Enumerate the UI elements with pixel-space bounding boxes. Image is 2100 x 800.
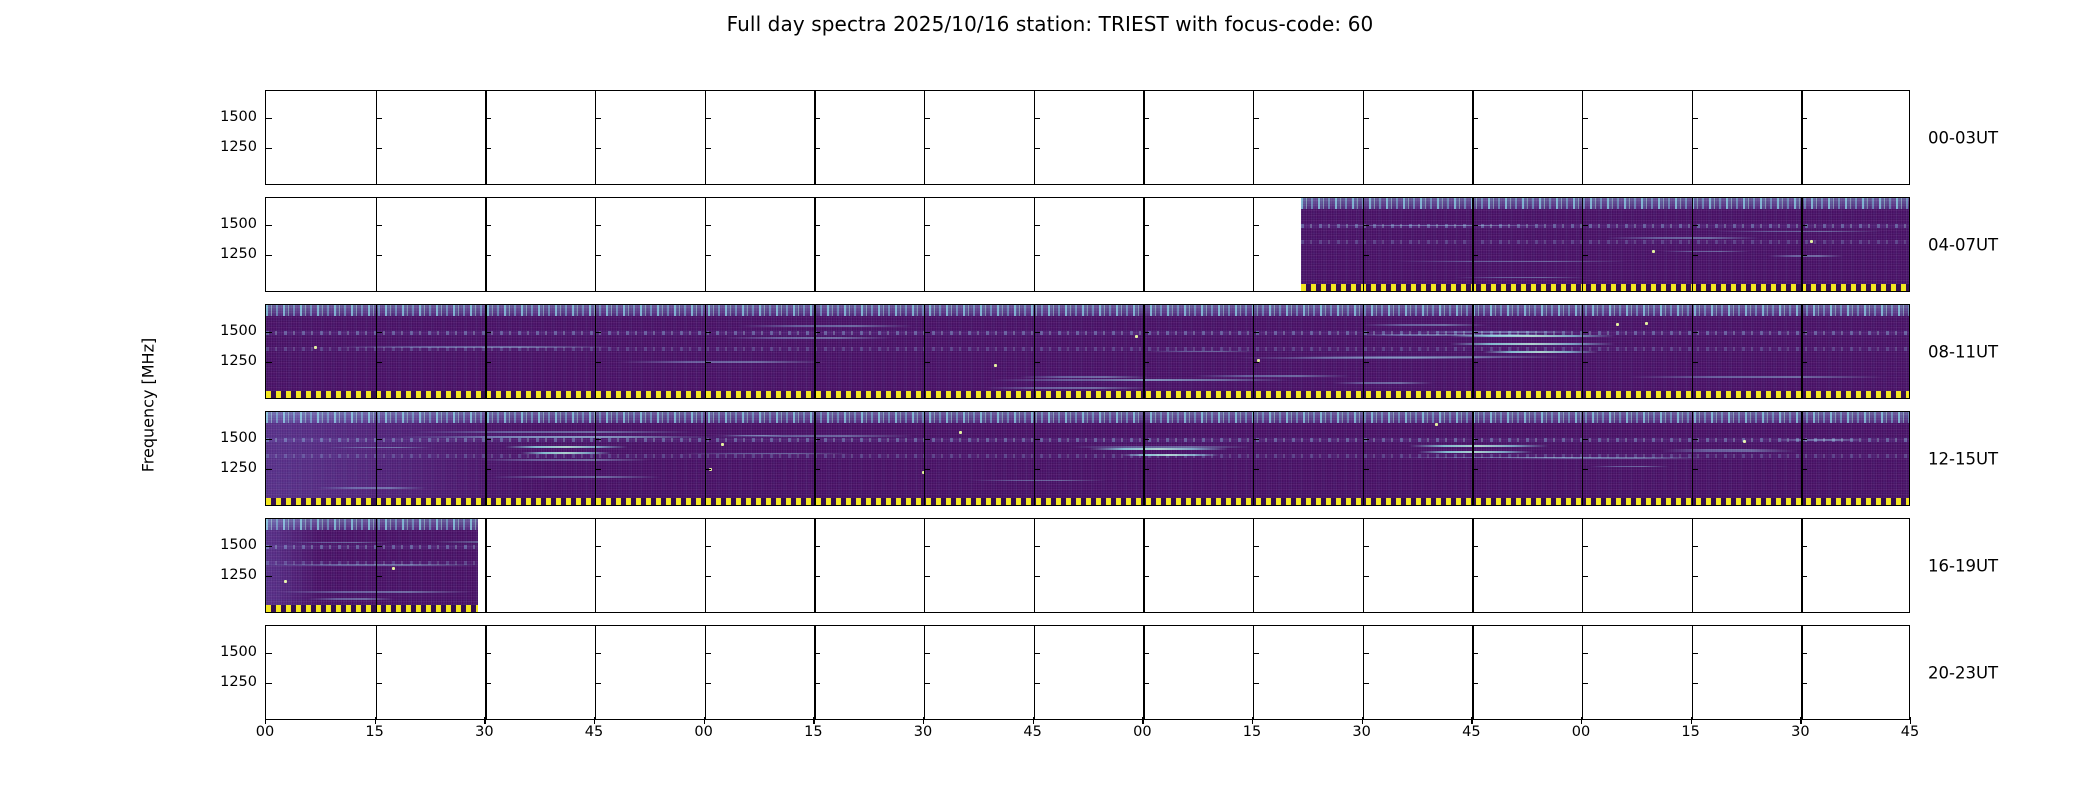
spectrogram-bright-point bbox=[1135, 335, 1138, 338]
y-tick-mark bbox=[1801, 148, 1807, 149]
y-tick-mark bbox=[1143, 653, 1149, 654]
y-tick-label: 1500 bbox=[220, 216, 257, 232]
row-labels: 00-03UT04-07UT08-11UT12-15UT16-19UT20-23… bbox=[1928, 90, 2098, 720]
y-tick-mark bbox=[1363, 546, 1369, 547]
x-tick-label: 30 bbox=[1352, 724, 1370, 740]
y-tick-mark bbox=[1582, 439, 1588, 440]
panel-separator bbox=[595, 626, 596, 719]
y-tick-mark bbox=[814, 469, 820, 470]
y-tick-mark bbox=[1582, 576, 1588, 577]
y-tick-mark bbox=[1692, 683, 1698, 684]
panel-separator bbox=[1692, 305, 1693, 398]
y-tick-mark bbox=[1801, 653, 1807, 654]
y-tick-mark bbox=[1253, 332, 1259, 333]
spectrogram-rfi-streak bbox=[1421, 331, 1577, 333]
y-tick-mark bbox=[485, 332, 491, 333]
x-tick-mark bbox=[265, 717, 266, 724]
y-tick-mark bbox=[376, 255, 382, 256]
y-tick-mark bbox=[1472, 653, 1478, 654]
y-tick-mark bbox=[924, 546, 930, 547]
y-tick-mark bbox=[1253, 576, 1259, 577]
spectrogram-rfi-streak bbox=[1661, 251, 1750, 253]
y-tick-mark bbox=[266, 439, 272, 440]
y-tick-mark bbox=[705, 546, 711, 547]
y-tick-mark bbox=[814, 653, 820, 654]
spectrogram-rfi-streak bbox=[1418, 451, 1533, 453]
y-tick-mark bbox=[1363, 469, 1369, 470]
y-tick-mark bbox=[1472, 148, 1478, 149]
y-tick-mark bbox=[1582, 255, 1588, 256]
spectrogram-top-band bbox=[266, 519, 478, 530]
y-tick-mark bbox=[266, 469, 272, 470]
y-tick-mark bbox=[1582, 332, 1588, 333]
y-tick-mark bbox=[1034, 439, 1040, 440]
y-tick-mark bbox=[1034, 362, 1040, 363]
x-tick-label: 15 bbox=[804, 724, 822, 740]
spectrogram-rfi-streak bbox=[1361, 324, 1487, 326]
spectrogram-rfi-streak bbox=[505, 446, 628, 448]
panel-separator bbox=[1034, 519, 1035, 612]
y-tick-label: 1500 bbox=[220, 537, 257, 553]
y-tick-mark bbox=[1034, 332, 1040, 333]
y-tick-mark bbox=[1253, 255, 1259, 256]
spectrogram-row bbox=[265, 197, 1910, 292]
row-plot-area bbox=[266, 412, 1909, 505]
y-tick-mark bbox=[1143, 576, 1149, 577]
y-tick-mark bbox=[1582, 653, 1588, 654]
y-tick-mark bbox=[924, 225, 930, 226]
y-tick-mark bbox=[924, 653, 930, 654]
y-tick-mark bbox=[814, 225, 820, 226]
spectrogram-rfi-streak bbox=[619, 361, 827, 363]
figure-canvas: Full day spectra 2025/10/16 station: TRI… bbox=[0, 0, 2100, 800]
y-tick-mark bbox=[376, 469, 382, 470]
row-plot-area bbox=[266, 519, 1909, 612]
y-tick-mark bbox=[1472, 546, 1478, 547]
y-tick-mark bbox=[1582, 683, 1588, 684]
y-tick-mark bbox=[485, 576, 491, 577]
x-tick-label: 00 bbox=[694, 724, 712, 740]
y-tick-mark bbox=[485, 362, 491, 363]
x-axis-tick-labels: 00153045001530450015304500153045 bbox=[265, 724, 1910, 754]
spectrogram-secondary-band bbox=[1301, 240, 1909, 244]
y-tick-mark bbox=[1034, 255, 1040, 256]
spectrogram-rfi-streak bbox=[1713, 231, 1881, 233]
y-tick-mark bbox=[1363, 576, 1369, 577]
y-tick-mark bbox=[1253, 653, 1259, 654]
y-tick-mark bbox=[595, 576, 601, 577]
y-tick-mark bbox=[705, 576, 711, 577]
y-tick-mark bbox=[705, 653, 711, 654]
row-time-label: 08-11UT bbox=[1928, 342, 1998, 361]
panel-separator bbox=[1692, 519, 1693, 612]
y-tick-mark bbox=[1253, 362, 1259, 363]
spectrogram-rfi-streak bbox=[1606, 237, 1760, 239]
y-tick-label: 1250 bbox=[220, 567, 257, 583]
spectrogram-data bbox=[266, 412, 1909, 505]
spectrogram-rfi-streak bbox=[723, 337, 893, 339]
spectrogram-bright-point bbox=[1435, 423, 1438, 426]
y-tick-mark bbox=[705, 683, 711, 684]
y-tick-mark bbox=[595, 653, 601, 654]
y-tick-mark bbox=[705, 255, 711, 256]
y-tick-mark bbox=[814, 362, 820, 363]
y-tick-mark bbox=[595, 118, 601, 119]
y-tick-mark bbox=[814, 683, 820, 684]
y-tick-mark bbox=[595, 439, 601, 440]
y-tick-mark bbox=[376, 576, 382, 577]
y-tick-label: 1500 bbox=[220, 644, 257, 660]
y-tick-mark bbox=[1692, 653, 1698, 654]
y-axis-title: Frequency [MHz] bbox=[139, 338, 158, 472]
y-tick-mark bbox=[924, 576, 930, 577]
y-tick-mark bbox=[485, 653, 491, 654]
panel-separator bbox=[1143, 198, 1144, 291]
x-tick-label: 45 bbox=[1023, 724, 1041, 740]
panel-separator bbox=[1472, 91, 1473, 184]
spectrogram-noise-texture bbox=[266, 305, 1909, 398]
spectrogram-bright-point bbox=[284, 580, 287, 583]
panel-separator bbox=[485, 519, 486, 612]
y-tick-mark bbox=[1034, 469, 1040, 470]
y-tick-mark bbox=[1801, 546, 1807, 547]
y-tick-mark bbox=[1801, 683, 1807, 684]
y-tick-mark bbox=[1143, 546, 1149, 547]
spectrogram-rfi-streak bbox=[1454, 277, 1588, 279]
y-tick-mark bbox=[1034, 683, 1040, 684]
spectrogram-row bbox=[265, 625, 1910, 720]
spectrogram-rfi-streak bbox=[1450, 343, 1615, 345]
y-tick-mark bbox=[1034, 546, 1040, 547]
panel-separator bbox=[1034, 626, 1035, 719]
y-tick-mark bbox=[924, 255, 930, 256]
y-tick-mark bbox=[1363, 362, 1369, 363]
y-tick-mark bbox=[1034, 225, 1040, 226]
y-tick-mark bbox=[1692, 118, 1698, 119]
panel-separator bbox=[705, 305, 706, 398]
panel-separator bbox=[1363, 305, 1364, 398]
y-tick-mark bbox=[1143, 332, 1149, 333]
panel-separator bbox=[1363, 412, 1364, 505]
y-tick-mark bbox=[1143, 225, 1149, 226]
panel-separator bbox=[814, 412, 815, 505]
y-tick-mark bbox=[1801, 225, 1807, 226]
y-tick-mark bbox=[485, 148, 491, 149]
panel-separator bbox=[1801, 91, 1802, 184]
row-plot-area bbox=[266, 91, 1909, 184]
panel-separator bbox=[595, 91, 596, 184]
y-tick-label: 1250 bbox=[220, 139, 257, 155]
data-quality-flag-strip bbox=[266, 498, 1909, 505]
y-tick-mark bbox=[595, 469, 601, 470]
row-time-label: 16-19UT bbox=[1928, 556, 1998, 575]
panel-separator bbox=[924, 626, 925, 719]
panel-separator bbox=[1582, 519, 1583, 612]
spectrogram-secondary-band bbox=[266, 438, 1909, 442]
spectrogram-row bbox=[265, 411, 1910, 506]
y-tick-mark bbox=[924, 469, 930, 470]
spectrogram-noise-texture bbox=[1301, 198, 1909, 291]
y-tick-mark bbox=[266, 362, 272, 363]
y-tick-mark bbox=[1143, 683, 1149, 684]
panel-separator bbox=[376, 198, 377, 291]
y-tick-mark bbox=[814, 546, 820, 547]
panel-separator bbox=[595, 519, 596, 612]
y-tick-mark bbox=[1692, 439, 1698, 440]
y-tick-mark bbox=[376, 683, 382, 684]
spectrogram-grid bbox=[265, 90, 1910, 720]
x-tick-label: 45 bbox=[1462, 724, 1480, 740]
panel-separator bbox=[1692, 412, 1693, 505]
y-tick-mark bbox=[1363, 653, 1369, 654]
y-tick-mark bbox=[485, 469, 491, 470]
y-tick-mark bbox=[595, 225, 601, 226]
panel-separator bbox=[1582, 305, 1583, 398]
y-tick-label: 1500 bbox=[220, 323, 257, 339]
spectrogram-rfi-streak bbox=[1238, 357, 1503, 359]
y-tick-mark bbox=[1472, 332, 1478, 333]
panel-separator bbox=[1692, 198, 1693, 291]
y-tick-mark bbox=[1363, 255, 1369, 256]
spectrogram-data bbox=[266, 305, 1909, 398]
spectrogram-rfi-streak bbox=[1089, 448, 1229, 450]
panel-separator bbox=[1143, 91, 1144, 184]
spectrogram-secondary-band bbox=[266, 331, 1909, 335]
y-tick-mark bbox=[1472, 469, 1478, 470]
spectrogram-top-band bbox=[266, 305, 1909, 316]
y-tick-mark bbox=[485, 255, 491, 256]
y-tick-mark bbox=[1253, 546, 1259, 547]
y-tick-mark bbox=[1363, 439, 1369, 440]
panel-separator bbox=[1472, 198, 1473, 291]
row-time-label: 00-03UT bbox=[1928, 128, 1998, 147]
y-tick-mark bbox=[924, 683, 930, 684]
spectrogram-data bbox=[1301, 198, 1909, 291]
panel-separator bbox=[924, 305, 925, 398]
spectrogram-rfi-streak bbox=[1121, 454, 1220, 456]
panel-separator bbox=[1582, 91, 1583, 184]
spectrogram-rfi-streak bbox=[1395, 261, 1627, 263]
panel-separator bbox=[705, 519, 706, 612]
spectrogram-bright-point bbox=[314, 346, 317, 349]
y-tick-mark bbox=[485, 439, 491, 440]
panel-separator bbox=[1363, 198, 1364, 291]
spectrogram-rfi-streak bbox=[327, 447, 434, 449]
x-tick-label: 45 bbox=[585, 724, 603, 740]
y-tick-mark bbox=[705, 118, 711, 119]
x-tick-label: 30 bbox=[914, 724, 932, 740]
y-tick-mark bbox=[1363, 683, 1369, 684]
spectrogram-rfi-streak bbox=[1317, 225, 1557, 227]
y-tick-label: 1250 bbox=[220, 353, 257, 369]
y-tick-mark bbox=[1472, 118, 1478, 119]
panel-separator bbox=[1472, 305, 1473, 398]
y-tick-mark bbox=[376, 225, 382, 226]
panel-separator bbox=[1143, 626, 1144, 719]
data-quality-flag-strip bbox=[266, 605, 478, 612]
y-tick-mark bbox=[595, 362, 601, 363]
y-tick-mark bbox=[705, 332, 711, 333]
y-tick-mark bbox=[376, 148, 382, 149]
x-tick-label: 30 bbox=[1791, 724, 1809, 740]
x-tick-label: 15 bbox=[1681, 724, 1699, 740]
y-tick-mark bbox=[266, 148, 272, 149]
panel-separator bbox=[1692, 626, 1693, 719]
spectrogram-rfi-streak bbox=[1147, 351, 1254, 353]
y-tick-mark bbox=[266, 118, 272, 119]
spectrogram-rfi-streak bbox=[739, 325, 913, 327]
panel-separator bbox=[595, 412, 596, 505]
spectrogram-rfi-streak bbox=[1019, 376, 1150, 378]
panel-separator bbox=[705, 626, 706, 719]
y-tick-mark bbox=[266, 683, 272, 684]
y-tick-mark bbox=[1692, 225, 1698, 226]
spectrogram-rfi-streak bbox=[491, 476, 661, 478]
panel-separator bbox=[705, 91, 706, 184]
data-quality-flag-strip bbox=[1301, 284, 1909, 291]
spectrogram-rfi-streak bbox=[989, 379, 1222, 381]
panel-separator bbox=[814, 305, 815, 398]
panel-separator bbox=[485, 198, 486, 291]
y-tick-mark bbox=[1692, 332, 1698, 333]
spectrogram-rfi-streak bbox=[479, 459, 650, 461]
panel-separator bbox=[485, 626, 486, 719]
panel-separator bbox=[1253, 626, 1254, 719]
panel-separator bbox=[376, 91, 377, 184]
y-tick-mark bbox=[1253, 118, 1259, 119]
spectrogram-rfi-streak bbox=[266, 564, 478, 566]
y-tick-mark bbox=[1582, 118, 1588, 119]
y-tick-mark bbox=[1034, 118, 1040, 119]
spectrogram-rfi-streak bbox=[317, 487, 426, 489]
y-tick-mark bbox=[1253, 439, 1259, 440]
y-tick-mark bbox=[1253, 148, 1259, 149]
panel-separator bbox=[814, 519, 815, 612]
y-tick-label: 1500 bbox=[220, 109, 257, 125]
y-tick-mark bbox=[814, 118, 820, 119]
y-tick-mark bbox=[595, 546, 601, 547]
y-tick-mark bbox=[1363, 148, 1369, 149]
y-tick-mark bbox=[376, 362, 382, 363]
panel-separator bbox=[1034, 91, 1035, 184]
y-tick-mark bbox=[1692, 362, 1698, 363]
spectrogram-bright-point bbox=[1652, 250, 1655, 253]
panel-separator bbox=[1253, 412, 1254, 505]
y-tick-mark bbox=[266, 576, 272, 577]
y-tick-mark bbox=[1692, 546, 1698, 547]
y-tick-mark bbox=[266, 255, 272, 256]
panel-separator bbox=[376, 305, 377, 398]
y-tick-mark bbox=[595, 683, 601, 684]
panel-separator bbox=[814, 91, 815, 184]
x-tick-label: 15 bbox=[365, 724, 383, 740]
y-tick-mark bbox=[1143, 118, 1149, 119]
row-time-label: 12-15UT bbox=[1928, 449, 1998, 468]
panel-separator bbox=[814, 198, 815, 291]
spectrogram-rfi-streak bbox=[521, 452, 611, 454]
y-tick-mark bbox=[1582, 546, 1588, 547]
y-tick-mark bbox=[814, 576, 820, 577]
panel-separator bbox=[485, 91, 486, 184]
x-tick-mark bbox=[1910, 717, 1911, 724]
spectrogram-rfi-streak bbox=[968, 480, 1107, 482]
y-tick-mark bbox=[1801, 332, 1807, 333]
y-tick-mark bbox=[1034, 576, 1040, 577]
row-plot-area bbox=[266, 305, 1909, 398]
panel-separator bbox=[1472, 412, 1473, 505]
y-tick-mark bbox=[1363, 332, 1369, 333]
panel-separator bbox=[1034, 412, 1035, 505]
y-tick-mark bbox=[705, 469, 711, 470]
panel-separator bbox=[1253, 198, 1254, 291]
spectrogram-rfi-streak bbox=[985, 387, 1151, 389]
spectrogram-rfi-streak bbox=[431, 541, 479, 543]
panel-separator bbox=[1034, 305, 1035, 398]
spectrogram-rfi-streak bbox=[1450, 335, 1615, 337]
y-tick-mark bbox=[376, 118, 382, 119]
y-tick-mark bbox=[376, 546, 382, 547]
y-tick-label: 1250 bbox=[220, 246, 257, 262]
panel-separator bbox=[1253, 91, 1254, 184]
y-tick-mark bbox=[924, 362, 930, 363]
panel-separator bbox=[1582, 412, 1583, 505]
panel-separator bbox=[595, 305, 596, 398]
y-tick-mark bbox=[595, 255, 601, 256]
spectrogram-bright-point bbox=[994, 364, 997, 367]
y-tick-mark bbox=[1801, 118, 1807, 119]
spectrogram-row bbox=[265, 518, 1910, 613]
spectrogram-top-band bbox=[1301, 198, 1909, 209]
y-tick-mark bbox=[924, 118, 930, 119]
x-tick-label: 15 bbox=[1243, 724, 1261, 740]
row-plot-area bbox=[266, 626, 1909, 719]
y-tick-mark bbox=[1143, 255, 1149, 256]
panel-separator bbox=[1801, 198, 1802, 291]
figure-title: Full day spectra 2025/10/16 station: TRI… bbox=[0, 12, 2100, 36]
x-tick-label: 00 bbox=[1572, 724, 1590, 740]
panel-separator bbox=[1253, 519, 1254, 612]
x-tick-label: 00 bbox=[256, 724, 274, 740]
y-tick-mark bbox=[705, 362, 711, 363]
y-tick-mark bbox=[705, 148, 711, 149]
y-tick-mark bbox=[1582, 362, 1588, 363]
spectrogram-rfi-streak bbox=[1665, 449, 1788, 451]
panel-separator bbox=[924, 91, 925, 184]
y-tick-mark bbox=[1143, 469, 1149, 470]
spectrogram-rfi-streak bbox=[1589, 466, 1670, 468]
data-quality-flag-strip bbox=[266, 391, 1909, 398]
y-tick-mark bbox=[376, 653, 382, 654]
y-tick-label: 1250 bbox=[220, 460, 257, 476]
spectrogram-rfi-streak bbox=[682, 453, 851, 455]
y-tick-mark bbox=[1801, 469, 1807, 470]
panel-separator bbox=[1801, 305, 1802, 398]
y-axis-tick-labels: 1500125015001250150012501500125015001250… bbox=[185, 90, 257, 720]
y-tick-mark bbox=[1801, 576, 1807, 577]
panel-separator bbox=[376, 519, 377, 612]
y-tick-mark bbox=[1472, 362, 1478, 363]
y-tick-mark bbox=[814, 255, 820, 256]
y-tick-mark bbox=[1143, 439, 1149, 440]
panel-separator bbox=[1801, 626, 1802, 719]
x-tick-label: 45 bbox=[1901, 724, 1919, 740]
y-tick-mark bbox=[814, 332, 820, 333]
panel-separator bbox=[376, 412, 377, 505]
y-tick-mark bbox=[1692, 576, 1698, 577]
spectrogram-rfi-streak bbox=[336, 346, 613, 348]
spectrogram-data bbox=[266, 519, 478, 612]
panel-separator bbox=[1472, 519, 1473, 612]
